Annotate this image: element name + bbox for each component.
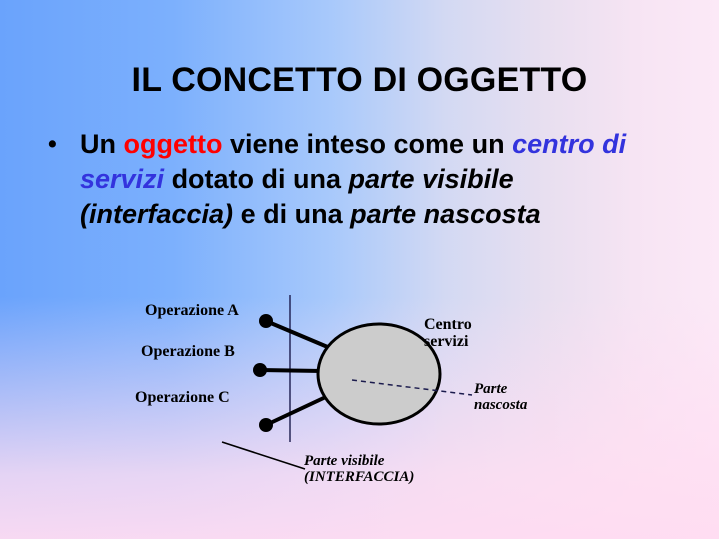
label-centro-servizi-line1: Centro [424, 316, 472, 333]
label-parte-visibile-line2: (INTERFACCIA) [304, 469, 414, 485]
bullet-marker: • [48, 127, 68, 162]
centro-servizi-ellipse [318, 324, 440, 424]
connector-line-c [266, 395, 330, 425]
connector-line-a [266, 321, 330, 348]
label-operazione-b: Operazione B [141, 343, 235, 360]
run-oggetto: oggetto [124, 129, 223, 159]
operation-dot-b [253, 363, 267, 377]
operation-dot-a [259, 314, 273, 328]
label-operazione-c: Operazione C [135, 389, 230, 406]
leader-line-parte-visibile [222, 442, 305, 469]
label-centro-servizi: Centro servizi [424, 316, 472, 351]
run-plain-1: Un [80, 129, 124, 159]
run-plain-3: dotato di una [164, 164, 348, 194]
run-plain-4: e di una [233, 199, 350, 229]
diagram-graphics [0, 282, 719, 539]
label-parte-nascosta-line2: nascosta [474, 397, 527, 413]
label-parte-visibile: Parte visibile (INTERFACCIA) [304, 453, 414, 485]
body-bullet-block: • Un oggetto viene inteso come un centro… [48, 127, 658, 232]
run-parte-nascosta: parte nascosta [350, 199, 541, 229]
label-centro-servizi-line2: servizi [424, 333, 472, 350]
operation-dot-c [259, 418, 273, 432]
label-parte-visibile-line1: Parte visibile [304, 453, 414, 469]
object-concept-diagram: Operazione A Operazione B Operazione C C… [0, 282, 719, 539]
bullet-paragraph: Un oggetto viene inteso come un centro d… [80, 127, 658, 232]
run-plain-2: viene inteso come un [222, 129, 512, 159]
label-parte-nascosta: Parte nascosta [474, 381, 527, 413]
connector-line-b [260, 370, 322, 371]
page-title: IL CONCETTO DI OGGETTO [0, 61, 719, 100]
label-operazione-a: Operazione A [145, 302, 239, 319]
label-parte-nascosta-line1: Parte [474, 381, 527, 397]
slide-canvas: IL CONCETTO DI OGGETTO • Un oggetto vien… [0, 0, 719, 539]
